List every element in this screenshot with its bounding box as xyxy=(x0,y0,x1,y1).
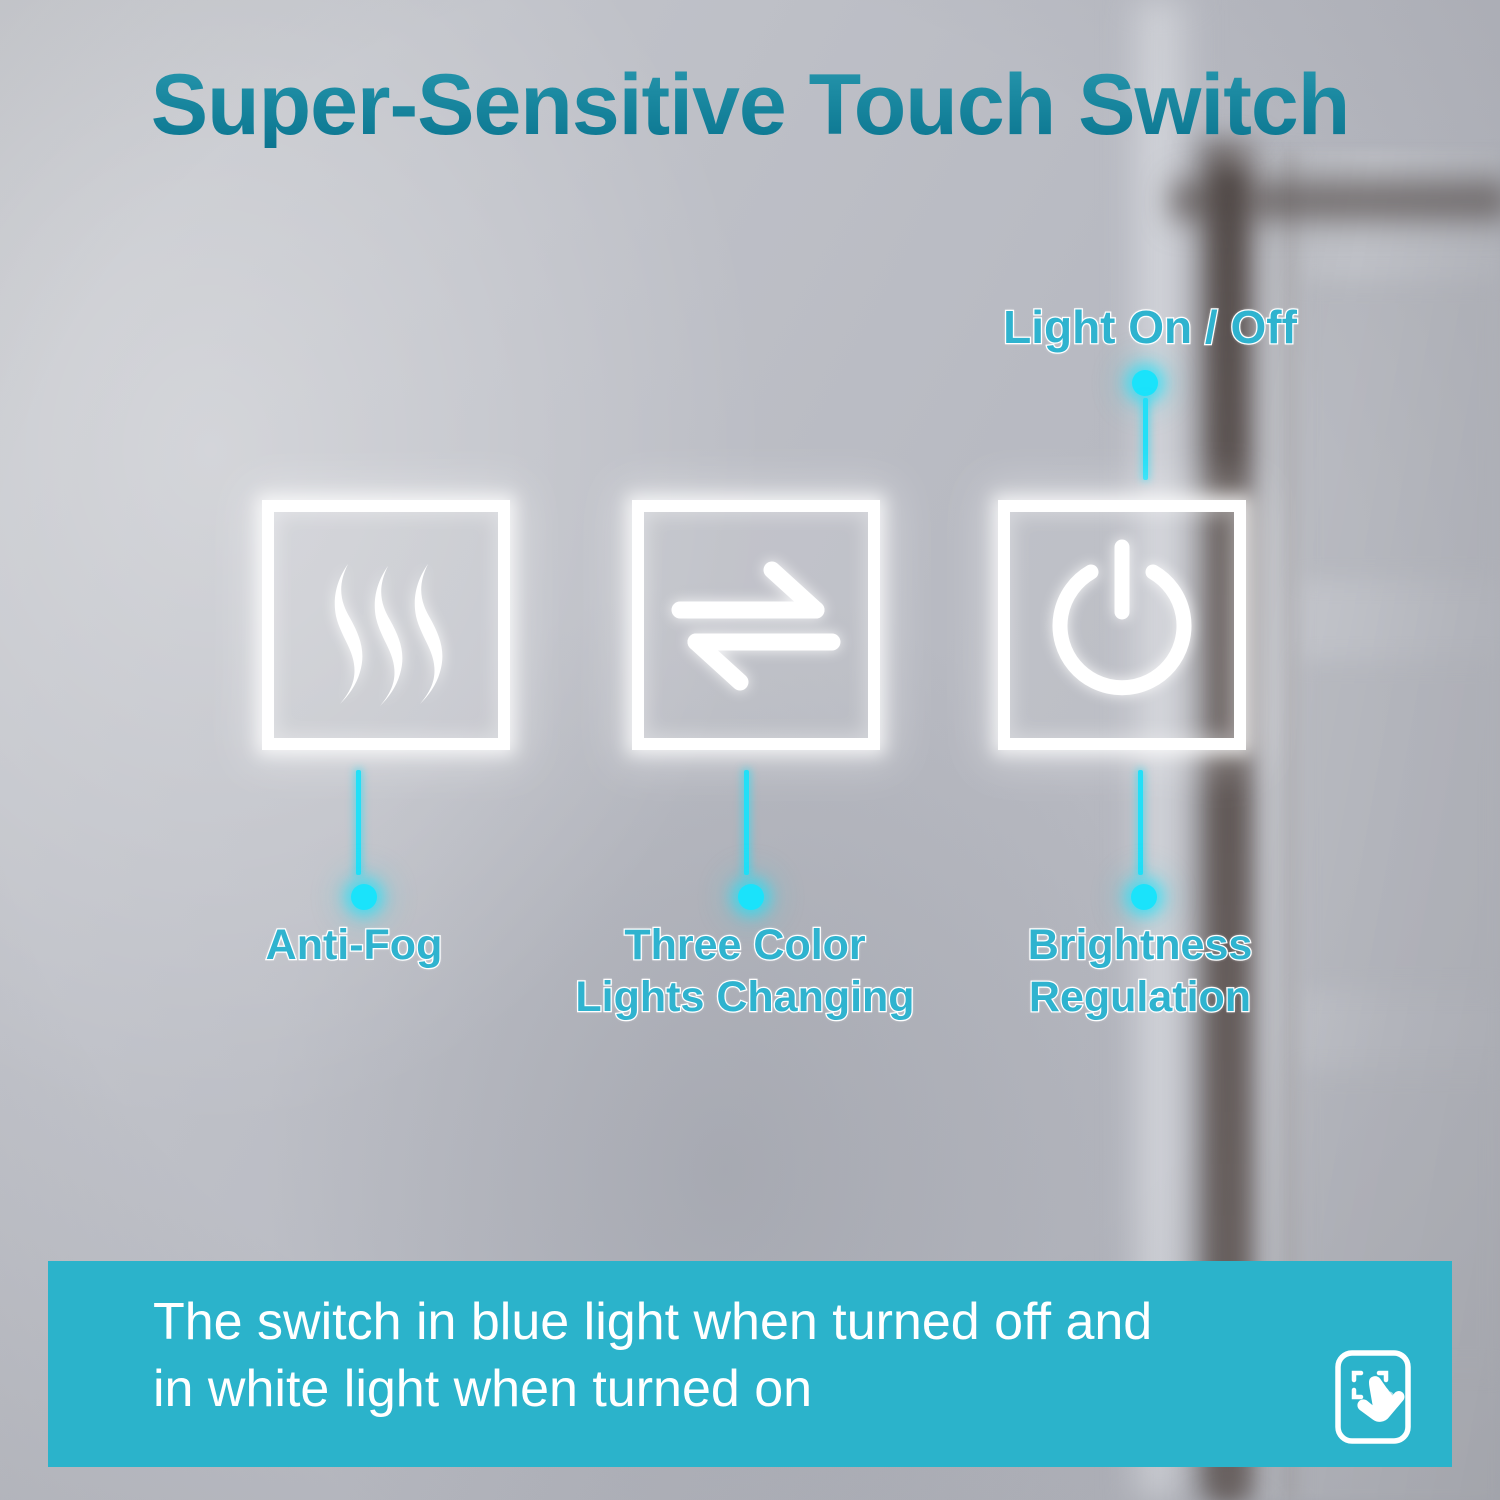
bottom-banner: The switch in blue light when turned off… xyxy=(48,1261,1452,1467)
switch-button-brightness-regulation[interactable] xyxy=(998,500,1246,750)
page-title: Super-Sensitive Touch Switch xyxy=(0,62,1500,148)
infographic-canvas: Super-Sensitive Touch Switch Light On / … xyxy=(0,0,1500,1500)
swap-arrows-icon xyxy=(680,570,832,682)
switch-button-anti-fog[interactable] xyxy=(262,500,510,750)
steam-waves-icon xyxy=(335,564,443,706)
connector-line-three-color-lights xyxy=(744,770,749,875)
connector-dot-light-on-off xyxy=(1132,370,1158,396)
power-icon xyxy=(1060,547,1184,688)
banner-description: The switch in blue light when turned off… xyxy=(153,1289,1333,1422)
switch-button-three-color-lights[interactable] xyxy=(632,500,880,750)
connector-line-brightness-regulation xyxy=(1138,770,1143,875)
connector-dot-brightness-regulation xyxy=(1131,884,1157,910)
touch-tap-icon xyxy=(1334,1349,1412,1445)
connector-line-light-on-off xyxy=(1143,398,1148,480)
connector-dot-three-color-lights xyxy=(738,884,764,910)
callout-label-light-on-off: Light On / Off xyxy=(880,300,1420,355)
connector-line-anti-fog xyxy=(356,770,361,875)
switch-label-brightness-regulation: Brightness Regulation xyxy=(920,920,1360,1023)
switch-label-three-color-lights: Three Color Lights Changing xyxy=(500,920,990,1023)
connector-dot-anti-fog xyxy=(351,884,377,910)
